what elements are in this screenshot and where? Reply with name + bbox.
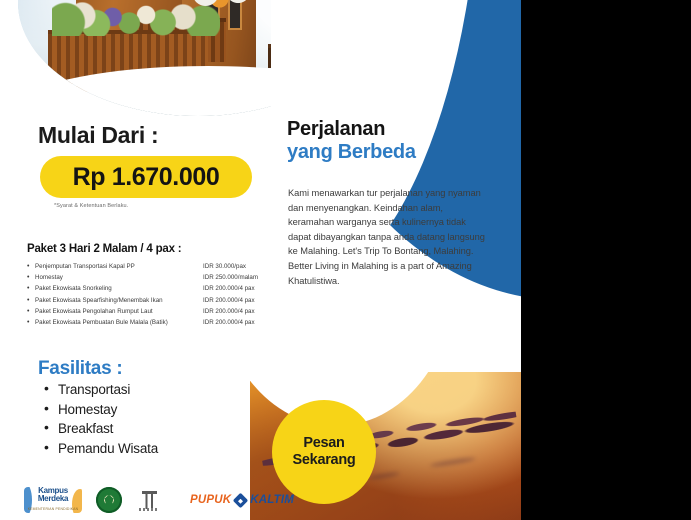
package-item-name: Paket Ekowisata Snorkeling xyxy=(35,283,203,294)
price-label: Mulai Dari : xyxy=(38,122,158,149)
bullet-icon: • xyxy=(27,261,35,272)
package-row: • Homestay IDR 250.000/malam xyxy=(27,272,272,283)
facility-item: Homestay xyxy=(58,400,158,420)
package-title: Paket 3 Hari 2 Malam / 4 pax : xyxy=(27,243,181,255)
package-item-price: IDR 200.000/4 pax xyxy=(203,306,272,317)
kampus-merdeka-logo: Kampus Merdeka KEMENTERIAN PENDIDIKAN xyxy=(24,487,82,513)
bullet-icon: • xyxy=(27,317,35,328)
terms-note: *Syarat & Ketentuan Berlaku. xyxy=(54,203,128,209)
partner-logo-strip: Kampus Merdeka KEMENTERIAN PENDIDIKAN PU… xyxy=(24,485,294,515)
bullet-icon: • xyxy=(27,295,35,306)
order-now-line1: Pesan xyxy=(303,435,344,451)
facility-item: Transportasi xyxy=(58,380,158,400)
package-item-price: IDR 200.000/4 pax xyxy=(203,317,272,328)
package-item-price: IDR 200.000/4 pax xyxy=(203,283,272,294)
kampus-merdeka-tagline: KEMENTERIAN PENDIDIKAN xyxy=(28,505,79,513)
package-row: • Paket Ekowisata Pembuatan Bule Malala … xyxy=(27,317,272,328)
pupuk-kaltim-word2: KALTIM xyxy=(250,494,294,506)
promotional-poster: Mulai Dari : Rp 1.670.000 *Syarat & Kete… xyxy=(0,0,521,520)
order-now-label: Pesan Sekarang xyxy=(293,435,356,469)
screenshot-stage: Mulai Dari : Rp 1.670.000 *Syarat & Kete… xyxy=(0,0,691,520)
package-list: • Penjemputan Transportasi Kapal PP IDR … xyxy=(27,261,272,328)
package-item-name: Homestay xyxy=(35,272,203,283)
facility-item: Breakfast xyxy=(58,419,158,439)
package-item-name: Paket Ekowisata Pembuatan Bule Malala (B… xyxy=(35,317,203,328)
package-item-name: Paket Ekowisata Spearfishing/Menembak Ik… xyxy=(35,295,203,306)
price-amount: Rp 1.670.000 xyxy=(73,163,220,192)
package-row: • Paket Ekowisata Pengolahan Rumput Laut… xyxy=(27,306,272,317)
facilities-title: Fasilitas : xyxy=(38,358,122,380)
package-item-name: Paket Ekowisata Pengolahan Rumput Laut xyxy=(35,306,203,317)
price-badge: Rp 1.670.000 xyxy=(40,156,252,198)
bullet-icon: • xyxy=(27,306,35,317)
bullet-icon: • xyxy=(27,272,35,283)
facility-item: Pemandu Wisata xyxy=(58,439,158,459)
package-item-price: IDR 200.000/4 pax xyxy=(203,295,272,306)
facilities-list: Transportasi Homestay Breakfast Pemandu … xyxy=(40,380,158,458)
kampus-merdeka-line2: Merdeka xyxy=(38,495,68,504)
package-row: • Paket Ekowisata Spearfishing/Menembak … xyxy=(27,295,272,306)
package-item-price: IDR 250.000/malam xyxy=(203,272,272,283)
about-body-text: Kami menawarkan tur perjalanan yang nyam… xyxy=(288,186,488,288)
order-now-line2: Sekarang xyxy=(293,452,356,468)
emblem-base xyxy=(139,508,159,511)
about-heading: Perjalanan yang Berbeda xyxy=(287,118,416,164)
package-item-name: Penjemputan Transportasi Kapal PP xyxy=(35,261,203,272)
balloon-decoration xyxy=(194,0,252,8)
package-row: • Penjemputan Transportasi Kapal PP IDR … xyxy=(27,261,272,272)
package-row: • Paket Ekowisata Snorkeling IDR 200.000… xyxy=(27,283,272,294)
pupuk-kaltim-word1: PUPUK xyxy=(190,494,231,506)
package-item-price: IDR 30.000/pax xyxy=(203,261,272,272)
university-seal-icon xyxy=(96,487,122,513)
about-heading-line2: yang Berbeda xyxy=(287,141,416,164)
emblem-figure xyxy=(142,491,157,509)
bullet-icon: • xyxy=(27,283,35,294)
pupuk-kaltim-logo: PUPUK KALTIM xyxy=(190,494,294,506)
pupuk-kaltim-diamond-icon xyxy=(233,492,249,508)
institution-emblem-icon xyxy=(136,487,162,513)
about-heading-line1: Perjalanan xyxy=(287,118,416,141)
